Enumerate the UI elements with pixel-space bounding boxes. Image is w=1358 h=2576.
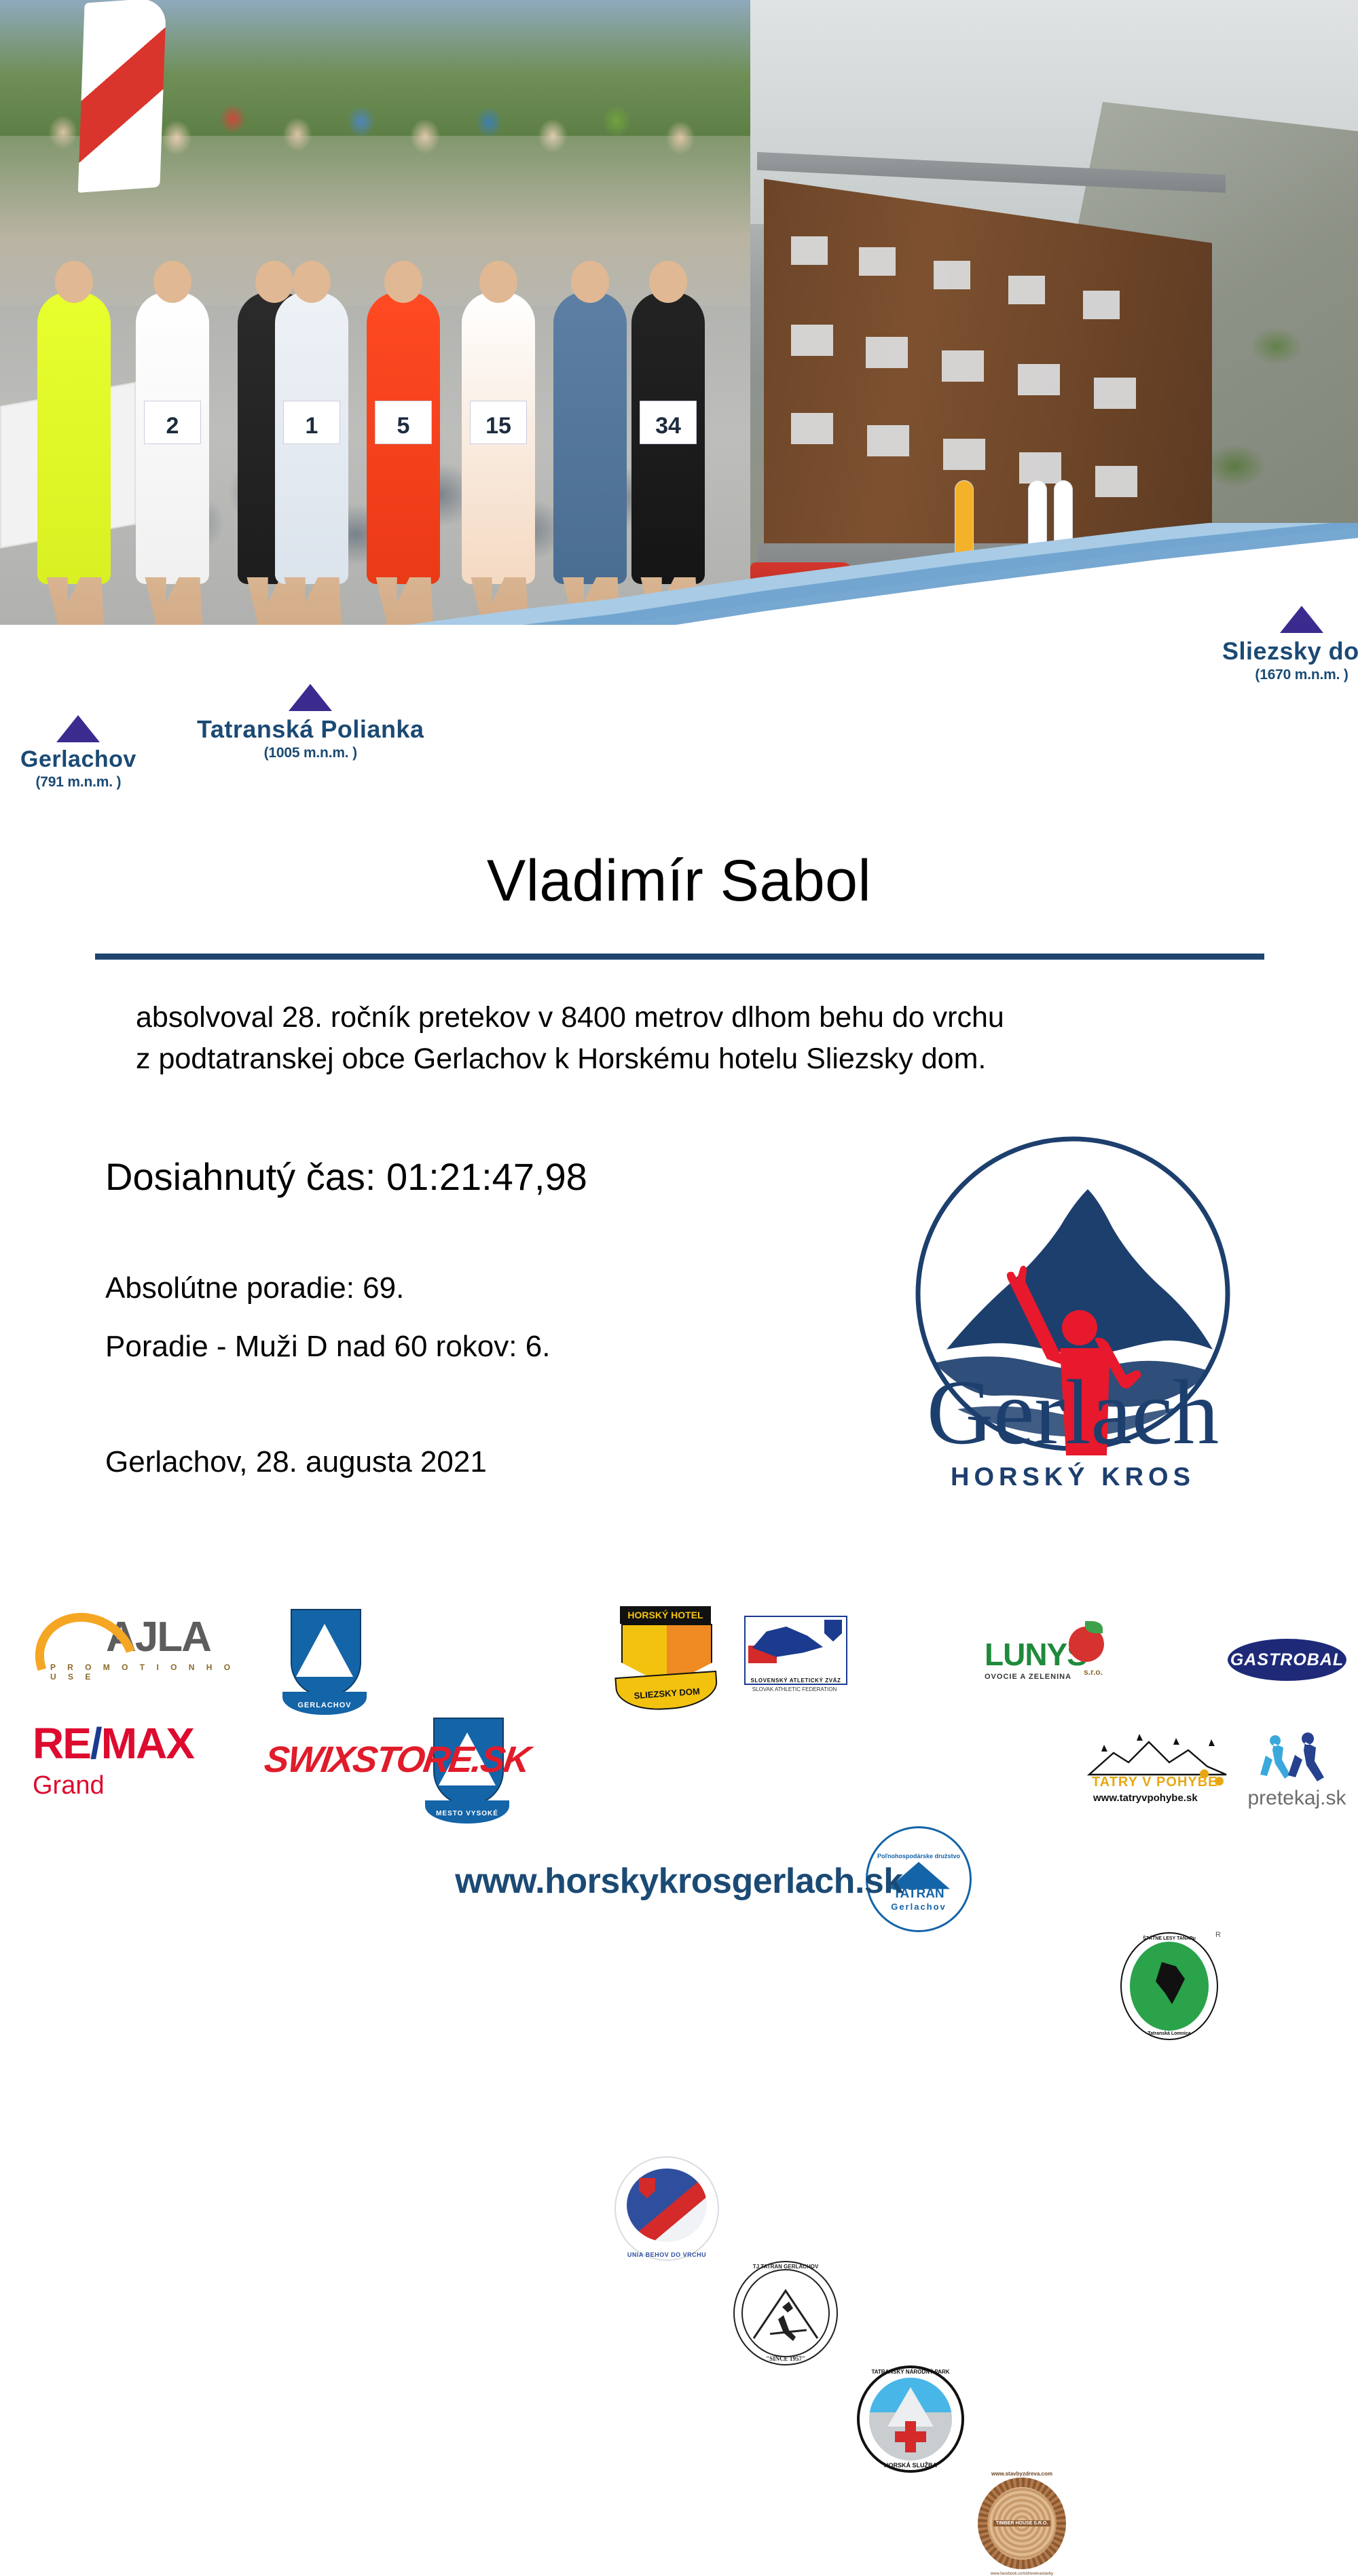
sponsor-unia-behov-do-vrchu[interactable]: UNIA BEHOV DO VRCHU bbox=[614, 2156, 719, 2261]
profile-point-gerlachov: Gerlachov (791 m.n.m. ) bbox=[20, 715, 136, 791]
photo-sliezsky-dom bbox=[750, 0, 1358, 625]
dreva-mid-label: TIMBER HOUSE S.R.O. bbox=[993, 2520, 1051, 2526]
tatran-top-label: Poľnohospodárske družstvo bbox=[877, 1853, 960, 1860]
saz-label-en: SLOVAK ATHLETIC FEDERATION bbox=[733, 1686, 856, 1692]
saz-emblem-frame: SLOVENSKÝ ATLETICKÝ ZVÄZ bbox=[744, 1616, 847, 1685]
runner-figure bbox=[37, 292, 111, 584]
tj-bottom-label: "SINCE 1957" bbox=[735, 2355, 837, 2362]
rank-overall: Absolútne poradie: 69. bbox=[105, 1271, 404, 1305]
sponsor-tj-tatran-gerlachov[interactable]: TJ TATRAN GERLACHOV "SINCE 1957" bbox=[733, 2261, 838, 2365]
hs-bottom-label: HORSKÁ SLUŽBA bbox=[860, 2462, 961, 2469]
sponsor-sail-flag bbox=[1029, 481, 1046, 576]
profile-point-name: Tatranská Polianka bbox=[197, 715, 424, 744]
sponsor-crest-gerlachov[interactable]: GERLACHOV bbox=[284, 1609, 365, 1718]
sponsor-statne-lesy-tanapu[interactable]: ŠTÁTNE LESY TANAPu Tatranská Lomnica R bbox=[1120, 1932, 1218, 2040]
runners-icon bbox=[1255, 1728, 1336, 1788]
unia-label: UNIA BEHOV DO VRCHU bbox=[616, 2251, 718, 2258]
crest-ribbon-label: GERLACHOV bbox=[282, 1692, 367, 1715]
profile-point-altitude: (791 m.n.m. ) bbox=[20, 774, 136, 791]
saz-label-sk: SLOVENSKÝ ATLETICKÝ ZVÄZ bbox=[746, 1677, 846, 1684]
parked-car bbox=[1164, 576, 1246, 607]
lesy-top-label: ŠTÁTNE LESY TANAPu bbox=[1122, 1936, 1217, 1941]
sponsor-sail-flag bbox=[955, 481, 973, 576]
divider-rule bbox=[95, 954, 1264, 960]
runner-figure: 2 bbox=[136, 292, 209, 584]
tvp-url: www.tatryvpohybe.sk bbox=[1093, 1792, 1198, 1804]
photo-race-start: 2 1 5 15 34 bbox=[0, 0, 750, 625]
sponsor-tatry-v-pohybe[interactable]: TATRY V POHYBE www.tatryvpohybe.sk bbox=[1086, 1733, 1229, 1814]
sponsor-remax-sub: Grand bbox=[33, 1771, 194, 1800]
slovak-coat-of-arms-icon bbox=[824, 1620, 842, 1641]
tj-top-label: TJ TATRAN GERLACHOV bbox=[735, 2264, 837, 2270]
profile-point-altitude: (1005 m.n.m. ) bbox=[197, 745, 424, 761]
header-photo-band: 2 1 5 15 34 bbox=[0, 0, 1358, 625]
remax-slash: / bbox=[90, 1719, 101, 1768]
dreva-bottom-label: www.facebook.com/drevenastavby bbox=[971, 2572, 1073, 2576]
sponsor-ajla[interactable]: AJLA P R O M O T I O N H O U S E bbox=[41, 1613, 238, 1694]
runner-name: Vladimír Sabol bbox=[0, 848, 1358, 915]
sponsor-horsky-hotel-sliezsky-dom[interactable]: HORSKÝ HOTEL SLIEZSKY DOM bbox=[614, 1606, 716, 1715]
profile-point-sliezsky-dom: Sliezsky dom (1670 m.n.m. ) bbox=[1222, 606, 1358, 683]
sponsor-sail-flag bbox=[1054, 481, 1072, 576]
sponsor-pretekaj-sk[interactable]: pretekaj.sk bbox=[1243, 1728, 1351, 1820]
description-line-1: absolvoval 28. ročník pretekov v 8400 me… bbox=[136, 997, 1236, 1038]
sponsor-hotel-top-label: HORSKÝ HOTEL bbox=[620, 1606, 711, 1624]
runner-figure: 5 bbox=[367, 292, 440, 584]
profile-point-name: Gerlachov bbox=[20, 746, 136, 773]
runner-figure bbox=[553, 292, 627, 584]
bib-number: 2 bbox=[144, 401, 201, 444]
peak-triangle-icon bbox=[56, 715, 100, 742]
sponsor-gastrobal[interactable]: GASTROBAL bbox=[1228, 1639, 1346, 1681]
logo-artwork: Gerlach HORSKÝ KROS bbox=[876, 1124, 1270, 1531]
runner-figure: 34 bbox=[631, 292, 705, 584]
description-line-2: z podtatranskej obce Gerlachov k Horském… bbox=[136, 1038, 1236, 1080]
achievement-description: absolvoval 28. ročník pretekov v 8400 me… bbox=[136, 997, 1236, 1080]
bib-number: 15 bbox=[470, 401, 527, 444]
tatran-bottom-label: Gerlachov bbox=[891, 1902, 947, 1912]
peak-triangle-icon bbox=[289, 684, 332, 711]
profile-point-tatranska-polianka: Tatranská Polianka (1005 m.n.m. ) bbox=[197, 684, 424, 761]
registered-mark: R bbox=[1215, 1931, 1221, 1939]
sponsor-strip: AJLA P R O M O T I O N H O U S E RE/MAX … bbox=[0, 1599, 1358, 1864]
runner-figure: 15 bbox=[462, 292, 535, 584]
runner-figure: 1 bbox=[275, 292, 348, 584]
sponsor-flag bbox=[78, 0, 166, 193]
peak-triangle-icon bbox=[1280, 606, 1323, 633]
profile-point-name: Sliezsky dom bbox=[1222, 637, 1358, 666]
rescue-van bbox=[750, 562, 852, 604]
bib-number: 1 bbox=[283, 401, 340, 444]
parked-car bbox=[974, 576, 1056, 607]
remax-re: RE bbox=[33, 1719, 90, 1768]
rank-category: Poradie - Muži D nad 60 rokov: 6. bbox=[105, 1330, 550, 1364]
dreva-top-label: www.stavbyzdreva.com bbox=[971, 2471, 1073, 2477]
sponsor-remax-wordmark: RE/MAX bbox=[33, 1718, 194, 1768]
place-and-date: Gerlachov, 28. augusta 2021 bbox=[105, 1445, 487, 1479]
sponsor-slovensky-atleticky-zvaz[interactable]: SLOVENSKÝ ATLETICKÝ ZVÄZ SLOVAK ATHLETIC… bbox=[733, 1616, 856, 1711]
gastrobal-wordmark: GASTROBAL bbox=[1230, 1650, 1344, 1670]
edelweiss-icon bbox=[1194, 1762, 1229, 1791]
remax-max: MAX bbox=[101, 1719, 194, 1768]
sponsor-stavbyzdreva[interactable]: www.stavbyzdreva.com TIMBER HOUSE S.R.O.… bbox=[971, 2471, 1073, 2576]
event-website-url[interactable]: www.horskykrosgerlach.sk bbox=[0, 1861, 1358, 1902]
lesy-bottom-label: Tatranská Lomnica bbox=[1122, 2031, 1217, 2036]
pretekaj-wordmark: pretekaj.sk bbox=[1243, 1787, 1351, 1810]
lunys-sub: OVOCIE A ZELENINA bbox=[985, 1673, 1071, 1681]
gerlach-horsky-kros-logo: Gerlach HORSKÝ KROS bbox=[876, 1124, 1270, 1531]
bib-number: 34 bbox=[640, 401, 697, 444]
sponsor-hotel-bottom-label: SLIEZSKY DOM bbox=[614, 1671, 718, 1713]
crest-ribbon-label: MESTO VYSOKÉ TATRY bbox=[425, 1800, 509, 1824]
sponsor-swixstore[interactable]: SWIXSTORE.SK bbox=[262, 1739, 532, 1781]
logo-wordmark: Gerlach bbox=[927, 1362, 1219, 1464]
bib-number: 5 bbox=[375, 401, 432, 444]
logo-tagline: HORSKÝ KROS bbox=[951, 1462, 1195, 1491]
parked-car bbox=[873, 573, 954, 604]
mountain-icon bbox=[296, 1624, 353, 1677]
sponsor-remax[interactable]: RE/MAX Grand bbox=[33, 1718, 194, 1800]
sponsor-horska-sluzba[interactable]: TATRANSKÝ NÁRODNÝ PARK HORSKÁ SLUŽBA bbox=[857, 2365, 964, 2473]
finish-time: Dosiahnutý čas: 01:21:47,98 bbox=[105, 1155, 587, 1199]
parked-car bbox=[1069, 575, 1151, 606]
sponsor-lunys[interactable]: LUNYS s.r.o. OVOCIE A ZELENINA bbox=[985, 1625, 1107, 1700]
profile-point-altitude: (1670 m.n.m. ) bbox=[1222, 667, 1358, 683]
hs-top-label: TATRANSKÝ NÁRODNÝ PARK bbox=[860, 2369, 961, 2375]
lunys-sro: s.r.o. bbox=[1084, 1667, 1103, 1677]
